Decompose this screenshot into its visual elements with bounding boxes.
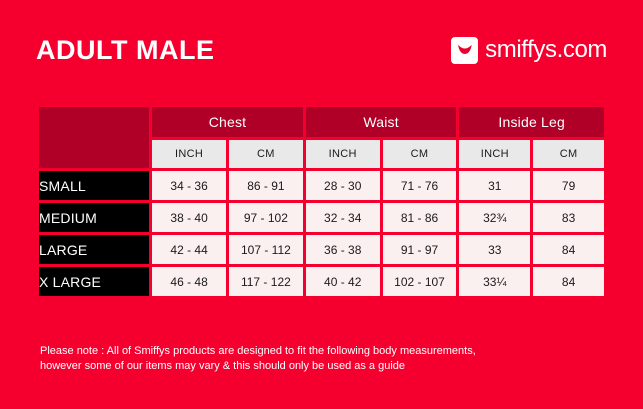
unit-header-waist-cm: CM — [383, 140, 457, 168]
cell-small-inside-leg-cm: 79 — [533, 171, 604, 200]
cell-large-chest-cm: 107 - 112 — [229, 235, 303, 264]
cell-medium-waist-inch: 32 - 34 — [306, 203, 380, 232]
brand-name: smiffys.com — [485, 38, 607, 62]
cell-medium-chest-cm: 97 - 102 — [229, 203, 303, 232]
unit-header-waist-inch: INCH — [306, 140, 380, 168]
footer-note: Please note : All of Smiffys products ar… — [40, 344, 610, 374]
cell-x-large-inside-leg-inch: 33¼ — [459, 267, 530, 296]
table-row: X LARGE 46 - 48 117 - 122 40 - 42 102 - … — [39, 267, 604, 296]
cell-small-waist-cm: 71 - 76 — [383, 171, 457, 200]
cell-large-waist-cm: 91 - 97 — [383, 235, 457, 264]
unit-header-inside-leg-cm: CM — [533, 140, 604, 168]
column-group-waist: Waist — [306, 107, 457, 137]
footer-note-line-1: Please note : All of Smiffys products ar… — [40, 344, 610, 359]
unit-header-chest-inch: INCH — [152, 140, 226, 168]
cell-x-large-waist-cm: 102 - 107 — [383, 267, 457, 296]
cell-medium-inside-leg-inch: 32¾ — [459, 203, 530, 232]
cell-small-inside-leg-inch: 31 — [459, 171, 530, 200]
page-header: ADULT MALE smiffys.com — [0, 0, 643, 96]
table-row: MEDIUM 38 - 40 97 - 102 32 - 34 81 - 86 … — [39, 203, 604, 232]
unit-header-inside-leg-inch: INCH — [459, 140, 530, 168]
cell-x-large-waist-inch: 40 - 42 — [306, 267, 380, 296]
cell-x-large-chest-cm: 117 - 122 — [229, 267, 303, 296]
cell-small-chest-inch: 34 - 36 — [152, 171, 226, 200]
cell-x-large-chest-inch: 46 - 48 — [152, 267, 226, 296]
column-group-chest: Chest — [152, 107, 303, 137]
cell-medium-waist-cm: 81 - 86 — [383, 203, 457, 232]
cell-small-waist-inch: 28 - 30 — [306, 171, 380, 200]
size-chart-table: Chest Waist Inside Leg INCH CM INCH CM I… — [36, 104, 607, 299]
cell-large-waist-inch: 36 - 38 — [306, 235, 380, 264]
size-label-small: SMALL — [39, 171, 149, 200]
brand-logo: smiffys.com — [451, 37, 607, 64]
cell-medium-chest-inch: 38 - 40 — [152, 203, 226, 232]
page-title: ADULT MALE — [36, 37, 214, 64]
cell-small-chest-cm: 86 - 91 — [229, 171, 303, 200]
size-label-medium: MEDIUM — [39, 203, 149, 232]
cell-x-large-inside-leg-cm: 84 — [533, 267, 604, 296]
cell-large-inside-leg-inch: 33 — [459, 235, 530, 264]
table-row: SMALL 34 - 36 86 - 91 28 - 30 71 - 76 31… — [39, 171, 604, 200]
size-label-x-large: X LARGE — [39, 267, 149, 296]
cell-large-inside-leg-cm: 84 — [533, 235, 604, 264]
size-label-large: LARGE — [39, 235, 149, 264]
unit-header-chest-cm: CM — [229, 140, 303, 168]
cell-medium-inside-leg-cm: 83 — [533, 203, 604, 232]
table-row: LARGE 42 - 44 107 - 112 36 - 38 91 - 97 … — [39, 235, 604, 264]
table-group-header-row: Chest Waist Inside Leg — [39, 107, 604, 137]
smile-mark-icon — [451, 37, 478, 64]
cell-large-chest-inch: 42 - 44 — [152, 235, 226, 264]
column-group-inside-leg: Inside Leg — [459, 107, 604, 137]
table-corner-cell — [39, 107, 149, 168]
footer-note-line-2: however some of our items may vary & thi… — [40, 359, 610, 374]
